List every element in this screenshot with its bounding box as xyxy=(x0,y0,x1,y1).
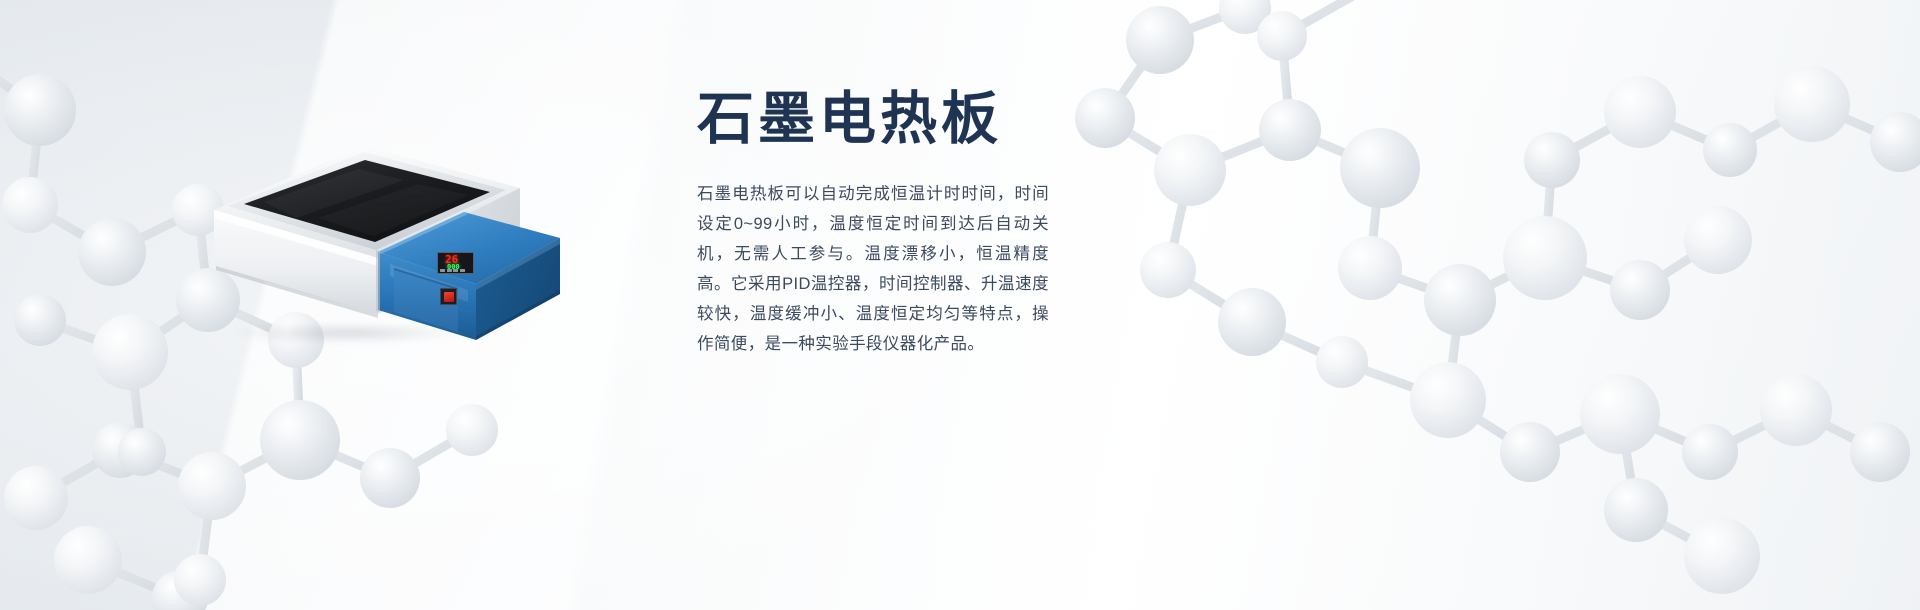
product-hero-banner: 26 000 石墨电热板 石墨电热板可以自动完成恒温计时时间，时间设定0~99小… xyxy=(0,0,1920,610)
power-switch-rocker[interactable] xyxy=(444,292,454,302)
controller-button-shift[interactable] xyxy=(447,269,452,272)
page-title: 石墨电热板 xyxy=(697,88,1097,152)
product-body xyxy=(168,118,568,358)
controller-buttons[interactable] xyxy=(440,269,465,272)
pid-controller-display: 26 000 xyxy=(437,252,474,274)
product-description: 石墨电热板可以自动完成恒温计时时间，时间设定0~99小时，温度恒定时间到达后自动… xyxy=(697,179,1049,359)
controller-button-down[interactable] xyxy=(453,269,458,272)
banner-copy: 石墨电热板 石墨电热板可以自动完成恒温计时时间，时间设定0~99小时，温度恒定时… xyxy=(697,88,1097,359)
controller-button-set[interactable] xyxy=(440,269,445,272)
product-image-graphite-hotplate xyxy=(168,118,568,358)
power-switch[interactable] xyxy=(440,288,457,305)
controller-button-up[interactable] xyxy=(460,269,465,272)
